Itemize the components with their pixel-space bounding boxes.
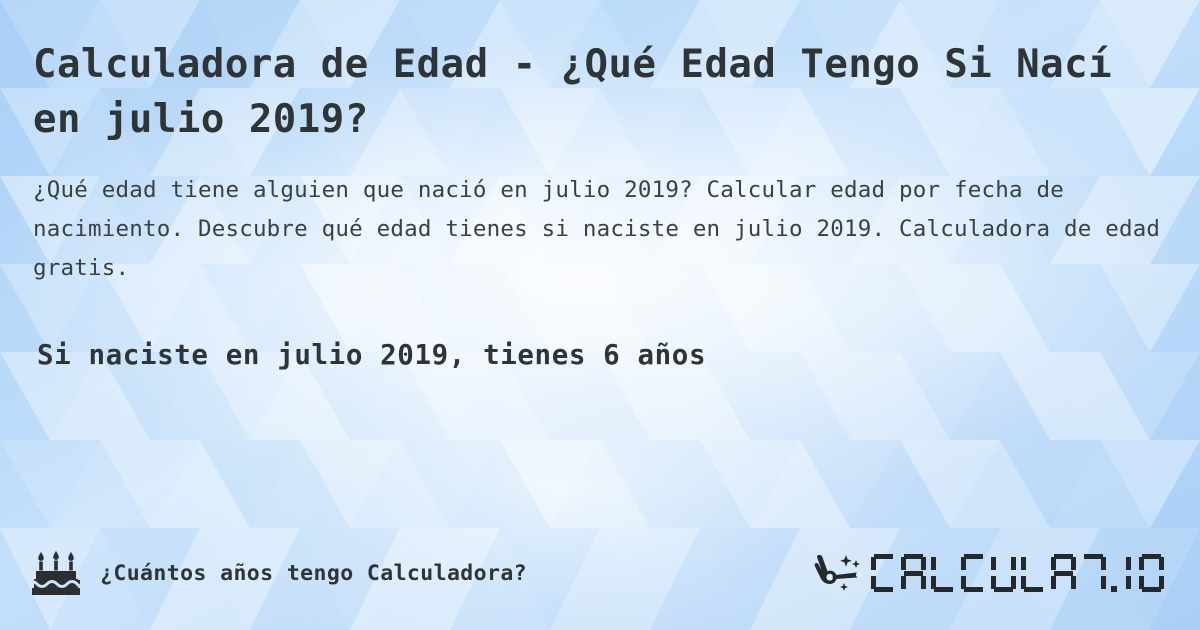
age-calculator-social-card: Calculadora de Edad - ¿Qué Edad Tengo Si… — [0, 0, 1200, 630]
logo-seg-C2 — [961, 554, 986, 592]
brand-label: ¿Cuántos años tengo Calculadora? — [100, 561, 527, 586]
age-result-statement: Si naciste en julio 2019, tienes 6 años — [37, 339, 1170, 371]
calculatio-logo[interactable] — [813, 552, 1164, 594]
logo-seg-L1 — [931, 554, 956, 592]
birthday-cake-icon — [30, 550, 82, 596]
intro-paragraph: ¿Qué edad tiene alguien que nació en jul… — [33, 171, 1163, 287]
page-title: Calculadora de Edad - ¿Qué Edad Tengo Si… — [33, 38, 1170, 147]
logo-seg-I — [1122, 554, 1134, 592]
card-content: Calculadora de Edad - ¿Qué Edad Tengo Si… — [0, 0, 1200, 630]
logo-wordmark — [871, 553, 1164, 593]
logo-seg-T — [1081, 554, 1106, 592]
logo-seg-U — [991, 554, 1016, 592]
logo-seg-C — [871, 554, 896, 592]
logo-seg-A — [901, 554, 926, 592]
logo-seg-A2 — [1051, 554, 1076, 592]
logo-dot — [1111, 586, 1117, 592]
site-brand[interactable]: ¿Cuántos años tengo Calculadora? — [30, 550, 527, 596]
footer-bar: ¿Cuántos años tengo Calculadora? — [0, 550, 1200, 596]
magic-wand-hand-icon — [813, 552, 865, 594]
logo-seg-L2 — [1021, 554, 1046, 592]
logo-seg-O — [1139, 554, 1164, 592]
